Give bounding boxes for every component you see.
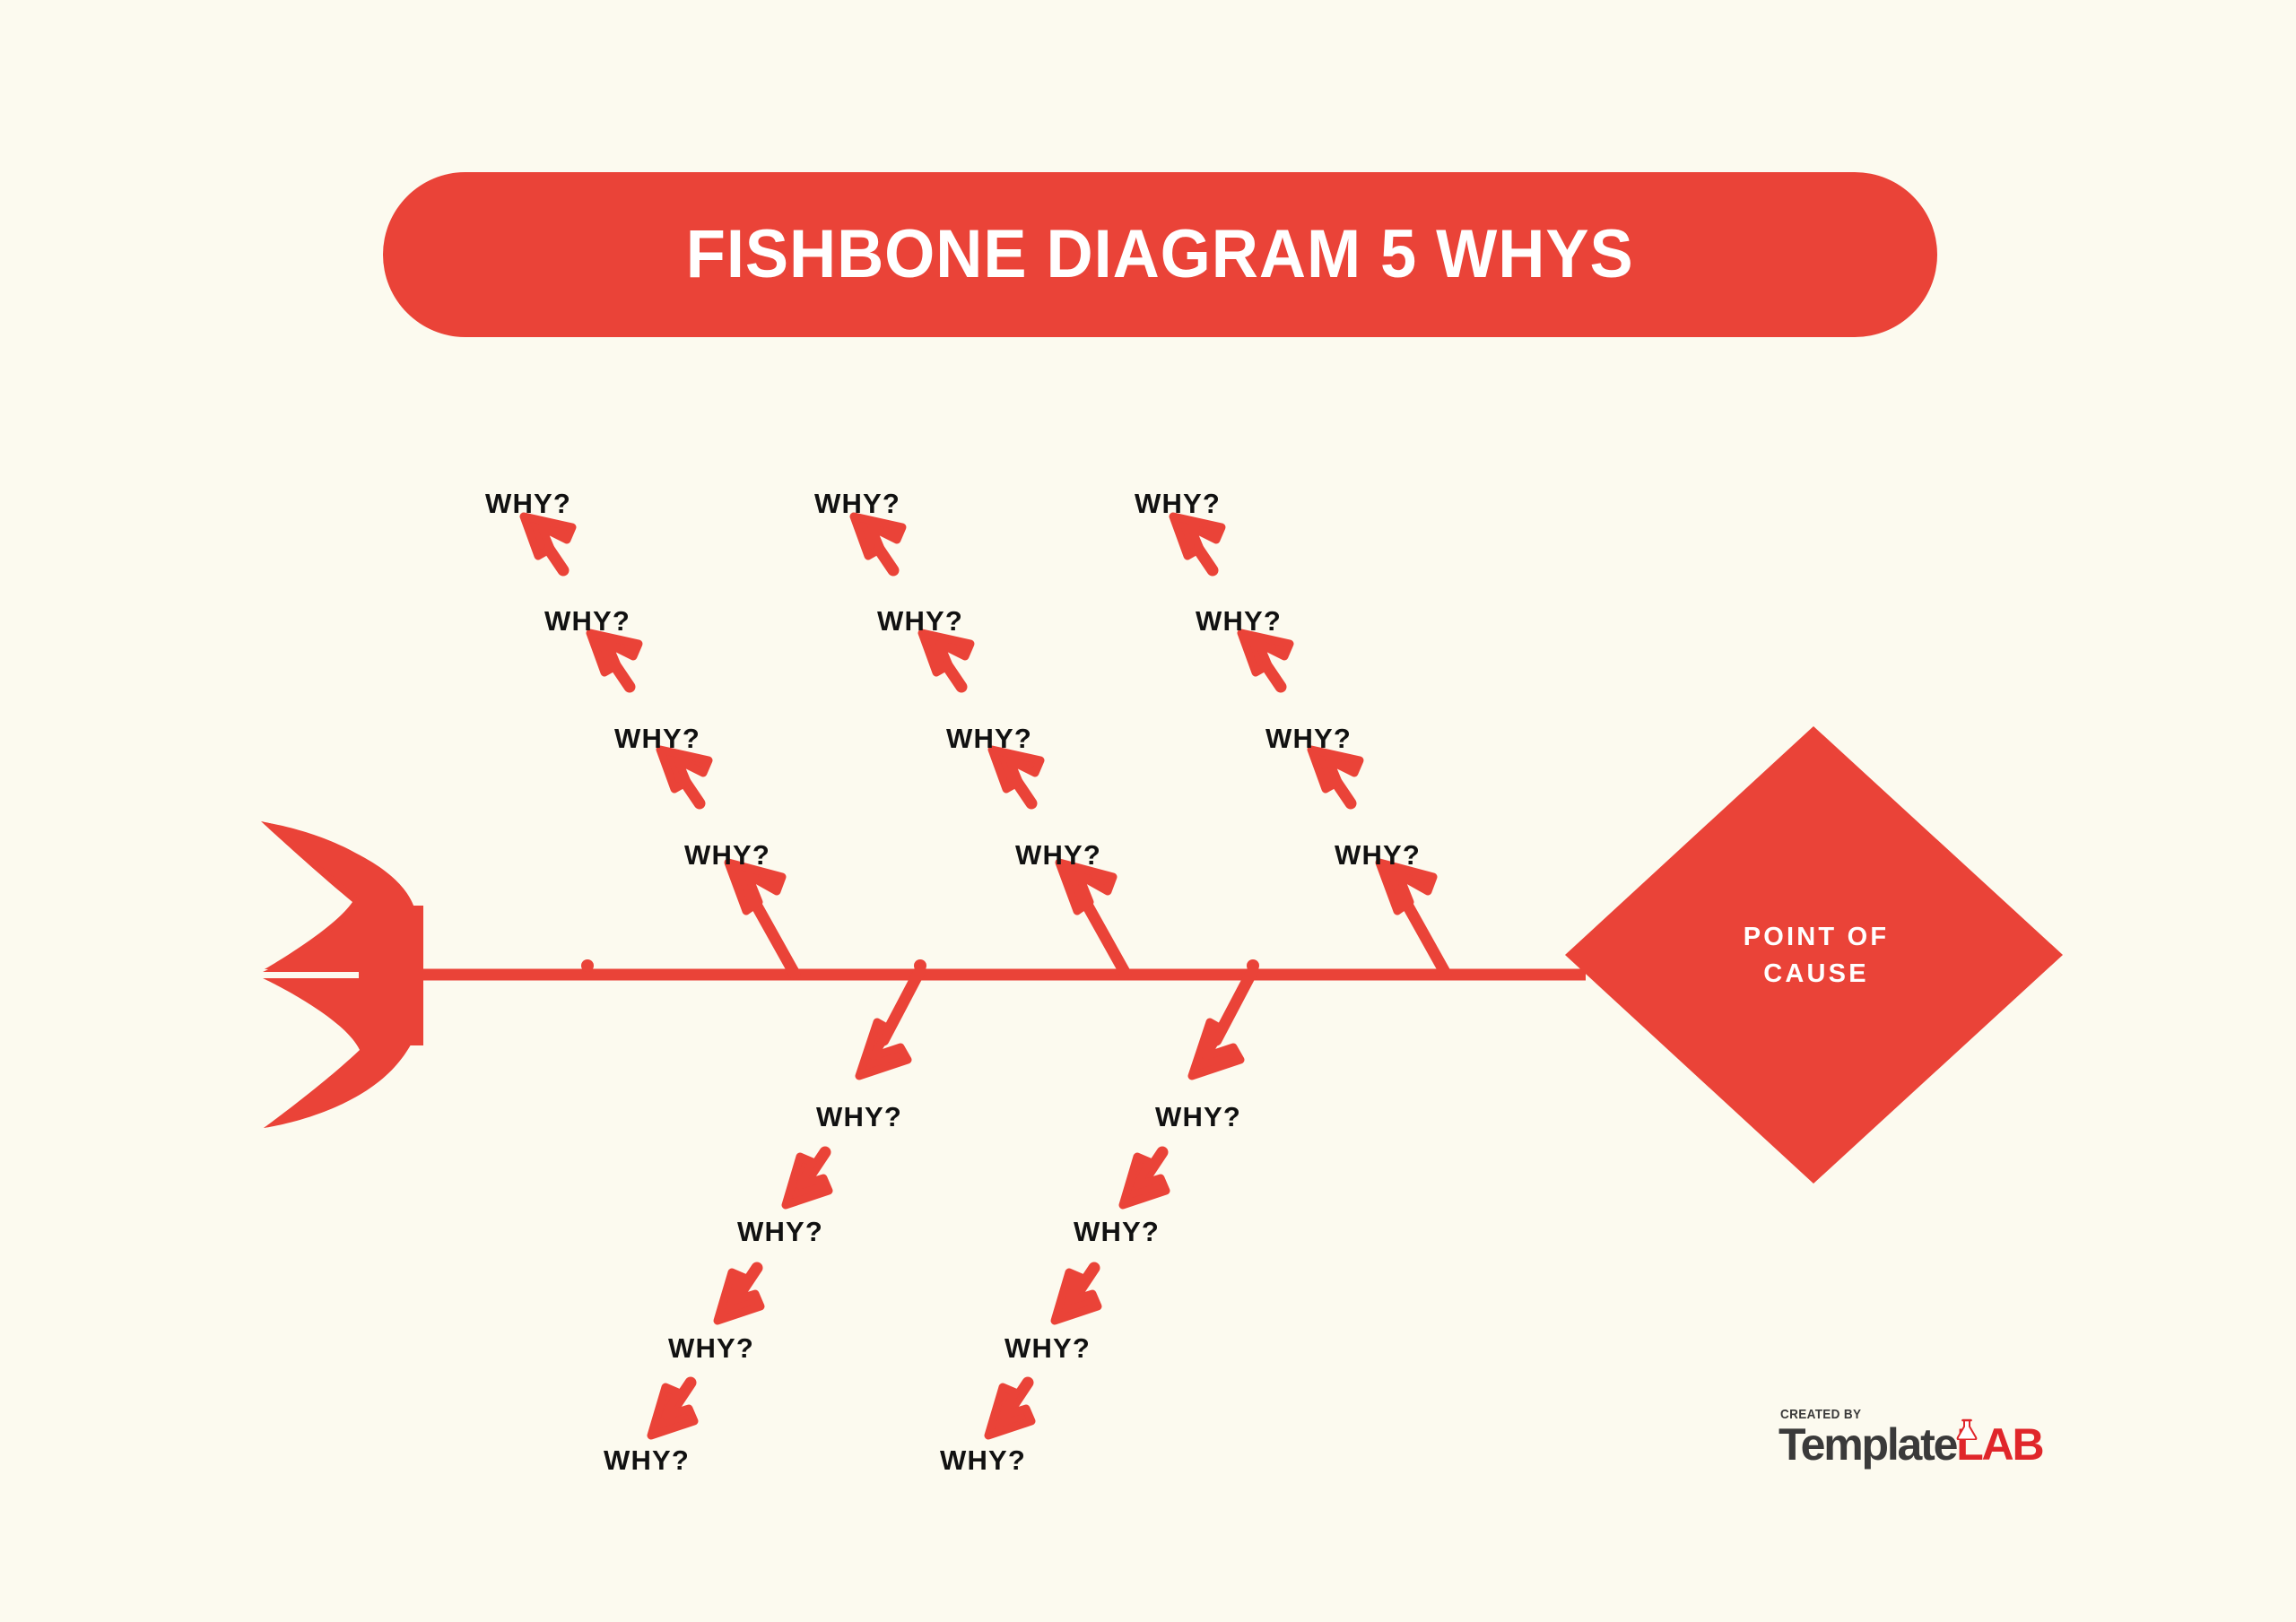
arrow-up-left-icon	[992, 750, 1040, 789]
why-label-lower-2-3: WHY?	[1004, 1334, 1091, 1362]
why-label-upper-2-1: WHY?	[814, 490, 900, 517]
arrow-up-left-icon	[1241, 633, 1290, 672]
why-label-upper-2-3: WHY?	[946, 724, 1032, 752]
logo-wordmark: TemplateLAB	[1779, 1422, 2042, 1467]
logo-template-text: Template	[1779, 1419, 1956, 1470]
point-of-cause-label: POINT OF CAUSE	[1664, 919, 1969, 993]
arrow-up-left-icon	[854, 516, 902, 556]
why-label-upper-1-2: WHY?	[544, 607, 631, 635]
why-label-lower-1-3: WHY?	[668, 1334, 754, 1362]
fishbone-diagram-page: FISHBONE DIAGRAM 5 WHYS	[0, 0, 2296, 1622]
why-label-lower-2-1: WHY?	[1155, 1103, 1241, 1131]
why-label-lower-2-4: WHY?	[940, 1446, 1026, 1474]
why-label-upper-1-1: WHY?	[485, 490, 571, 517]
fishbone-graphics	[0, 0, 2296, 1622]
why-label-lower-1-4: WHY?	[604, 1446, 690, 1474]
why-label-upper-3-4: WHY?	[1335, 841, 1421, 869]
branch-lower-1	[651, 970, 920, 1436]
arrow-up-left-icon	[660, 750, 709, 789]
why-label-upper-1-3: WHY?	[614, 724, 700, 752]
why-label-upper-3-1: WHY?	[1135, 490, 1221, 517]
why-label-upper-3-2: WHY?	[1196, 607, 1282, 635]
why-label-lower-1-2: WHY?	[737, 1218, 823, 1245]
why-label-upper-3-3: WHY?	[1265, 724, 1352, 752]
point-of-cause-line-2: CAUSE	[1664, 956, 1969, 993]
branch-lower-2	[988, 970, 1253, 1436]
templatelab-logo: CREATED BY TemplateLAB	[1779, 1408, 2074, 1479]
why-label-upper-1-4: WHY?	[684, 841, 770, 869]
arrow-down-left-icon	[1192, 1022, 1240, 1076]
why-label-lower-2-2: WHY?	[1074, 1218, 1160, 1245]
why-label-upper-2-4: WHY?	[1015, 841, 1101, 869]
flask-icon	[1955, 1418, 1979, 1440]
fish-tail-icon	[261, 821, 423, 1128]
arrow-up-left-icon	[1173, 516, 1222, 556]
spine-node	[581, 959, 594, 972]
why-label-lower-1-1: WHY?	[816, 1103, 902, 1131]
arrow-down-left-icon	[859, 1022, 908, 1076]
point-of-cause-line-1: POINT OF	[1664, 919, 1969, 956]
arrow-up-left-icon	[524, 516, 572, 556]
why-label-upper-2-2: WHY?	[877, 607, 963, 635]
arrow-up-left-icon	[922, 633, 970, 672]
arrow-up-left-icon	[590, 633, 639, 672]
arrow-up-left-icon	[1311, 750, 1360, 789]
